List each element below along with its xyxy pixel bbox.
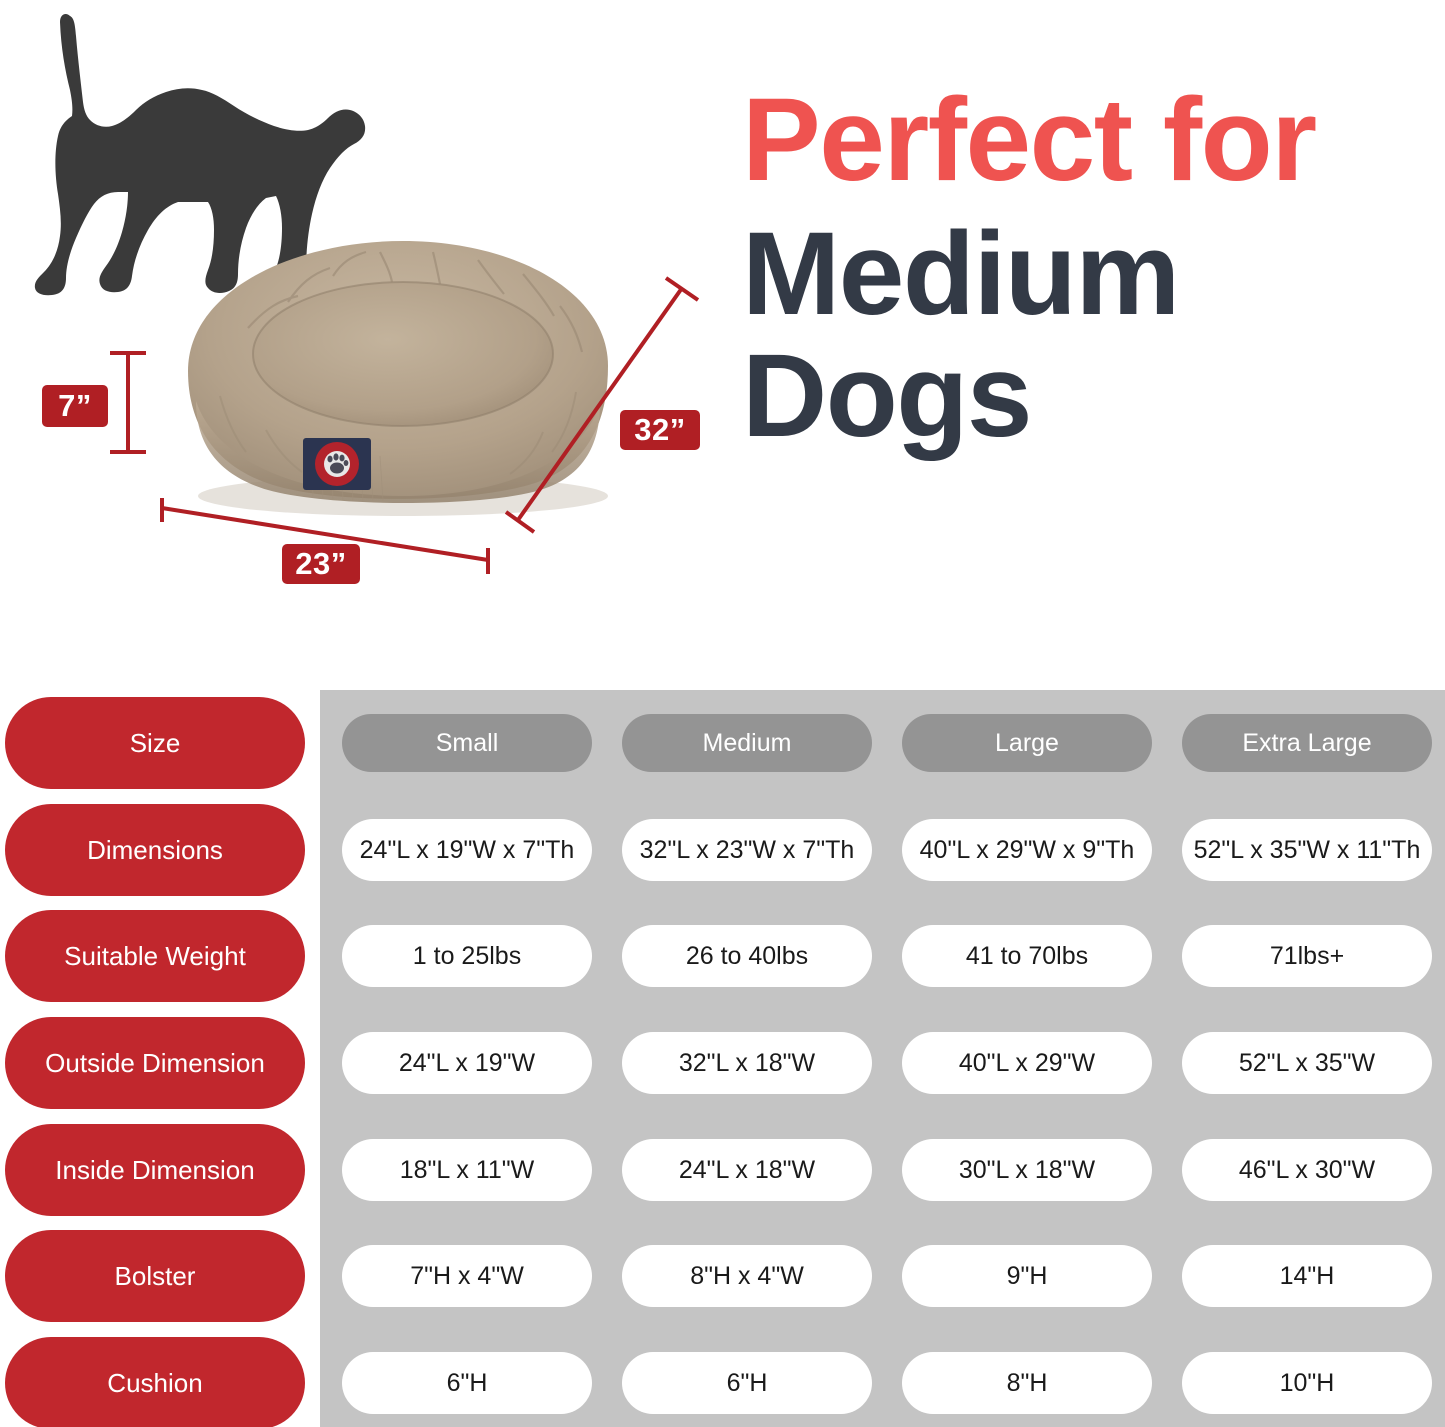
headline-line-3: Dogs bbox=[742, 340, 1442, 452]
spec-row-label-column: SizeDimensionsSuitable WeightOutside Dim… bbox=[0, 682, 310, 1427]
hero-section: 7” 23” 32” Perfect for Medium Dogs bbox=[0, 0, 1445, 680]
spec-value-cell: 40"L x 29"W bbox=[902, 1032, 1152, 1094]
dimension-badge-length: 32” bbox=[620, 410, 700, 450]
spec-value-cell: 1 to 25lbs bbox=[342, 925, 592, 987]
spec-row-label: Size bbox=[5, 697, 305, 789]
spec-value-cell: 8"H x 4"W bbox=[622, 1245, 872, 1307]
spec-value-cell: 8"H bbox=[902, 1352, 1152, 1414]
spec-column-header: Medium bbox=[622, 714, 872, 772]
spec-row-label: Suitable Weight bbox=[5, 910, 305, 1002]
spec-row-label: Cushion bbox=[5, 1337, 305, 1427]
infographic-root: 7” 23” 32” Perfect for Medium Dogs SizeD… bbox=[0, 0, 1445, 1427]
spec-value-cell: 6"H bbox=[622, 1352, 872, 1414]
spec-value-cell: 52"L x 35"W x 11"Th bbox=[1182, 819, 1432, 881]
spec-row-label: Outside Dimension bbox=[5, 1017, 305, 1109]
spec-value-cell: 14"H bbox=[1182, 1245, 1432, 1307]
spec-value-cell: 9"H bbox=[902, 1245, 1152, 1307]
spec-value-cell: 52"L x 35"W bbox=[1182, 1032, 1432, 1094]
dimension-leader-lines bbox=[0, 0, 760, 680]
dimension-badge-width: 23” bbox=[282, 544, 360, 584]
dimension-badge-height: 7” bbox=[42, 385, 108, 427]
spec-value-cell: 24"L x 19"W x 7"Th bbox=[342, 819, 592, 881]
spec-row-label: Inside Dimension bbox=[5, 1124, 305, 1216]
spec-value-cell: 6"H bbox=[342, 1352, 592, 1414]
spec-value-cell: 32"L x 18"W bbox=[622, 1032, 872, 1094]
headline-line-2: Medium bbox=[742, 218, 1442, 330]
spec-value-cell: 26 to 40lbs bbox=[622, 925, 872, 987]
spec-value-cell: 71lbs+ bbox=[1182, 925, 1432, 987]
spec-value-cell: 32"L x 23"W x 7"Th bbox=[622, 819, 872, 881]
spec-table: SizeDimensionsSuitable WeightOutside Dim… bbox=[0, 682, 1445, 1427]
spec-column-header: Large bbox=[902, 714, 1152, 772]
spec-value-cell: 10"H bbox=[1182, 1352, 1432, 1414]
headline-line-1: Perfect for bbox=[742, 84, 1442, 196]
spec-value-cell: 41 to 70lbs bbox=[902, 925, 1152, 987]
spec-value-cell: 18"L x 11"W bbox=[342, 1139, 592, 1201]
headline-block: Perfect for Medium Dogs bbox=[742, 84, 1442, 452]
spec-row-label: Bolster bbox=[5, 1230, 305, 1322]
spec-value-cell: 7"H x 4"W bbox=[342, 1245, 592, 1307]
spec-column-header: Extra Large bbox=[1182, 714, 1432, 772]
spec-value-cell: 24"L x 19"W bbox=[342, 1032, 592, 1094]
spec-value-panel: SmallMediumLargeExtra Large24"L x 19"W x… bbox=[320, 690, 1445, 1427]
spec-column-header: Small bbox=[342, 714, 592, 772]
spec-row-label: Dimensions bbox=[5, 804, 305, 896]
spec-value-cell: 30"L x 18"W bbox=[902, 1139, 1152, 1201]
spec-value-cell: 46"L x 30"W bbox=[1182, 1139, 1432, 1201]
spec-value-cell: 40"L x 29"W x 9"Th bbox=[902, 819, 1152, 881]
spec-value-cell: 24"L x 18"W bbox=[622, 1139, 872, 1201]
